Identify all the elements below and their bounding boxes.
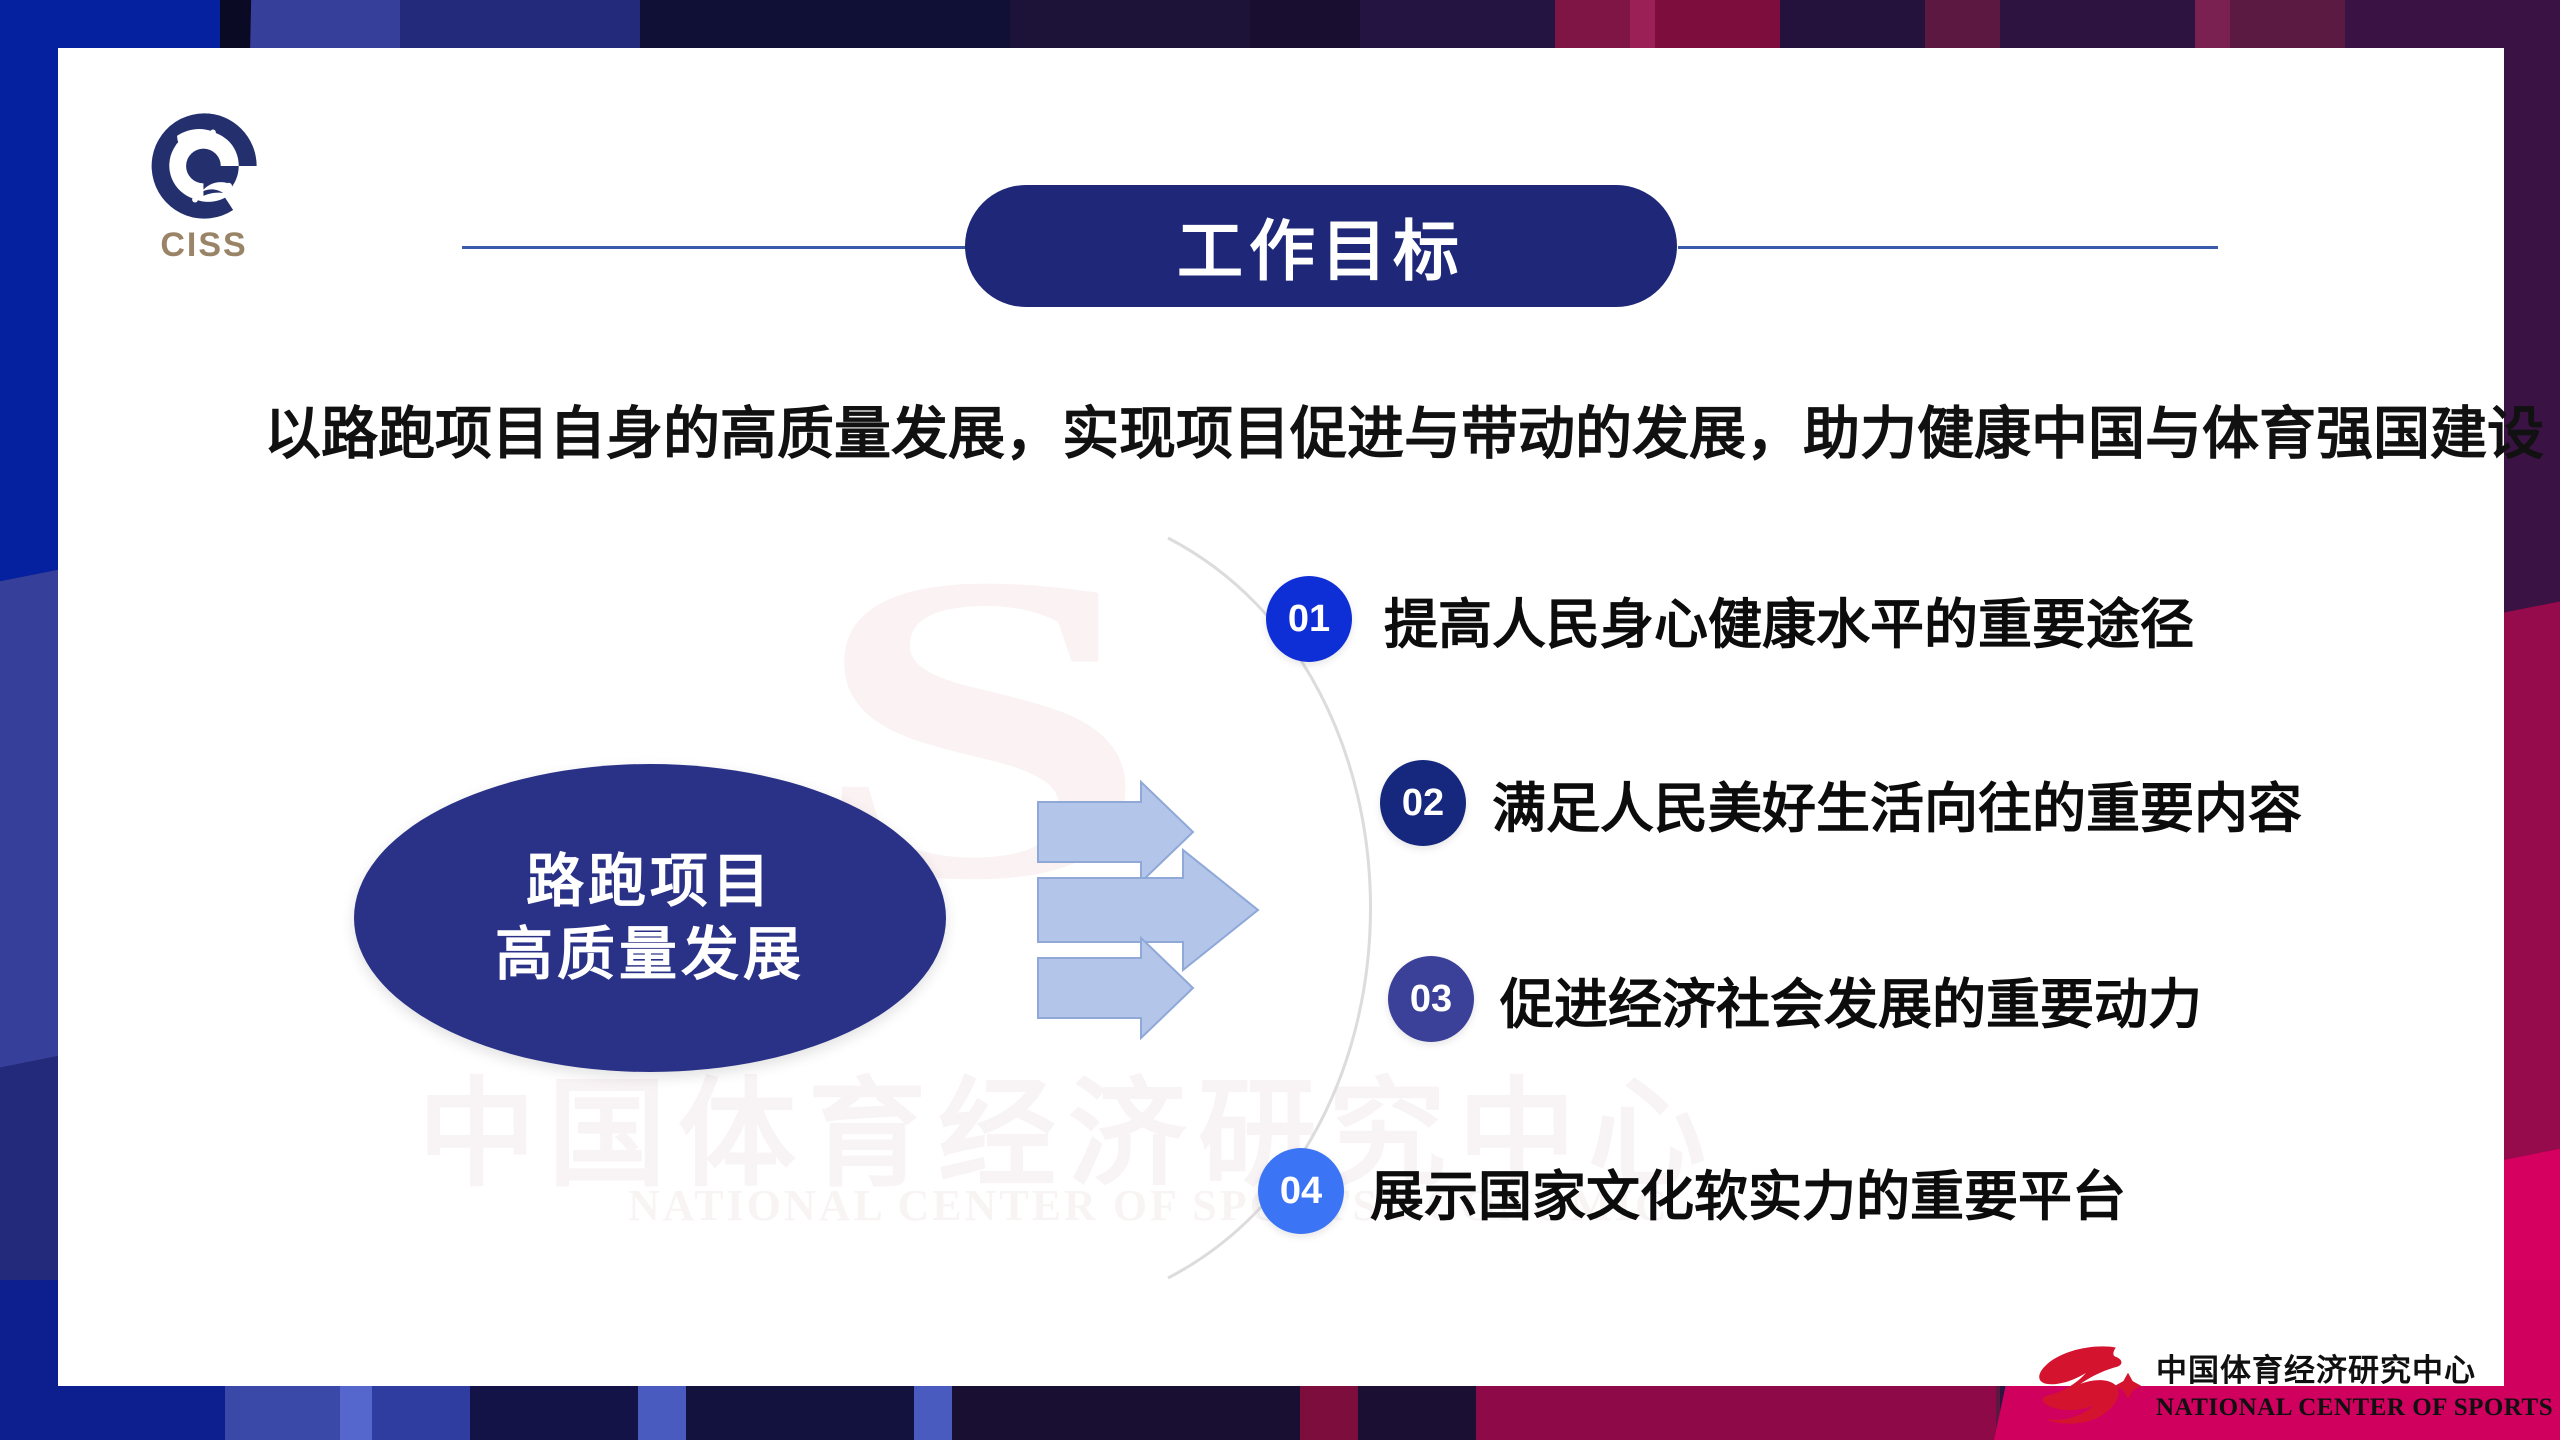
item-label-04: 展示国家文化软实力的重要平台 [1370,1152,2126,1231]
ciss-logo: CISS [134,110,274,265]
list-item[interactable]: 03 促进经济社会发展的重要动力 [1388,956,2202,1042]
core-line-1: 路跑项目 [526,845,774,918]
sports-swoosh-icon [2030,1340,2142,1426]
ciss-swirl-icon [148,110,260,222]
item-number-badge-02: 02 [1380,760,1466,846]
core-line-2: 高质量发展 [495,918,805,991]
item-label-02: 满足人民美好生活向往的重要内容 [1492,764,2302,843]
slide-canvas: S 中国体育经济研究中心 NATIONAL CENTER OF SPORTS E… [58,48,2504,1386]
ciss-logo-text: CISS [134,226,274,265]
title-rule-left [462,246,982,249]
footer-en-text: NATIONAL CENTER OF SPORTS ECONOMIC [2156,1394,2560,1422]
subtitle-text: 以路跑项目自身的高质量发展，实现项目促进与带动的发展，助力健康中国与体育强国建设 [264,388,2444,470]
footer-cn-text: 中国体育经济研究中心 [2156,1345,2560,1390]
item-label-01: 提高人民身心健康水平的重要途径 [1384,580,2194,659]
core-concept-ellipse: 路跑项目 高质量发展 [354,764,946,1072]
list-item[interactable]: 04 展示国家文化软实力的重要平台 [1258,1148,2126,1234]
page-title: 工作目标 [965,185,1677,307]
footer-text: 中国体育经济研究中心 NATIONAL CENTER OF SPORTS ECO… [2156,1345,2560,1422]
slide-root: S 中国体育经济研究中心 NATIONAL CENTER OF SPORTS E… [0,0,2560,1440]
item-number-badge-04: 04 [1258,1148,1344,1234]
item-number-badge-03: 03 [1388,956,1474,1042]
list-item[interactable]: 02 满足人民美好生活向往的重要内容 [1380,760,2302,846]
item-label-03: 促进经济社会发展的重要动力 [1500,960,2202,1039]
page-title-text: 工作目标 [1177,198,1465,294]
title-rule-right [1678,246,2218,249]
footer-logo: 中国体育经济研究中心 NATIONAL CENTER OF SPORTS ECO… [2030,1340,2560,1426]
list-item[interactable]: 01 提高人民身心健康水平的重要途径 [1266,576,2194,662]
triple-arrow-icon [1033,770,1293,1050]
item-number-badge-01: 01 [1266,576,1352,662]
